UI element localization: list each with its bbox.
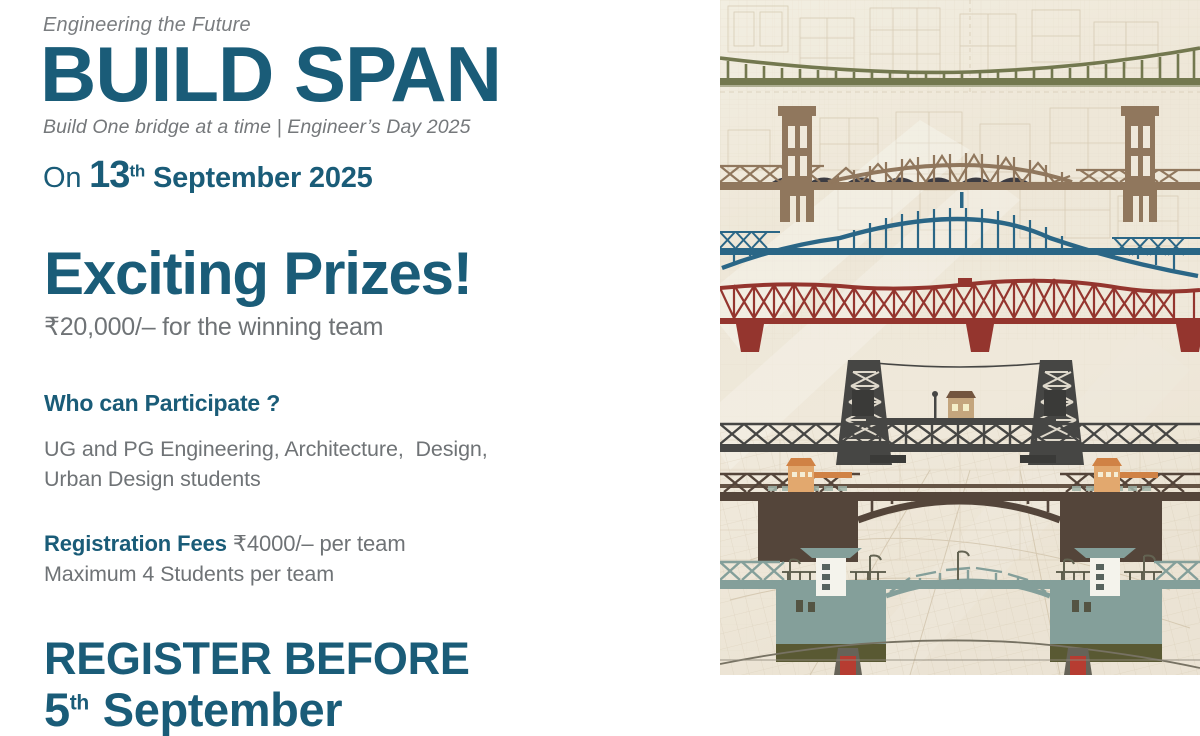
event-date-month: September 2025: [153, 162, 373, 194]
registration-fees-value: ₹4000/– per team: [233, 531, 406, 556]
event-date-day: 13: [89, 154, 129, 196]
prizes-heading: Exciting Prizes!: [44, 244, 720, 304]
deadline-date: 5thSeptember: [44, 685, 720, 734]
participation-body: UG and PG Engineering, Architecture, Des…: [44, 434, 720, 495]
participation-heading: Who can Participate ?: [44, 390, 720, 418]
deadline-month: September: [103, 683, 342, 736]
text-panel: Engineering the Future BUILD SPAN Build …: [0, 0, 720, 675]
event-date-prefix: On: [43, 162, 81, 194]
deadline-day: 5: [44, 683, 70, 736]
bridge-illustration-panel: [720, 0, 1200, 675]
prize-amount: ₹20,000/– for the winning team: [44, 312, 720, 342]
registration-fees-label: Registration Fees: [44, 531, 227, 556]
event-date: On 13th September 2025: [43, 156, 720, 194]
deadline-heading: REGISTER BEFORE: [44, 635, 720, 682]
subtitle: Build One bridge at a time | Engineer’s …: [43, 116, 720, 138]
registration-fees-line: Registration Fees ₹4000/– per team: [44, 529, 720, 559]
bridge-illustration-svg: [720, 0, 1200, 675]
poster-root: Engineering the Future BUILD SPAN Build …: [0, 0, 1200, 675]
page-title: BUILD SPAN: [40, 38, 720, 111]
event-date-ordinal: th: [129, 161, 145, 180]
team-size-note: Maximum 4 Students per team: [44, 560, 720, 589]
deadline-ordinal: th: [70, 691, 89, 714]
